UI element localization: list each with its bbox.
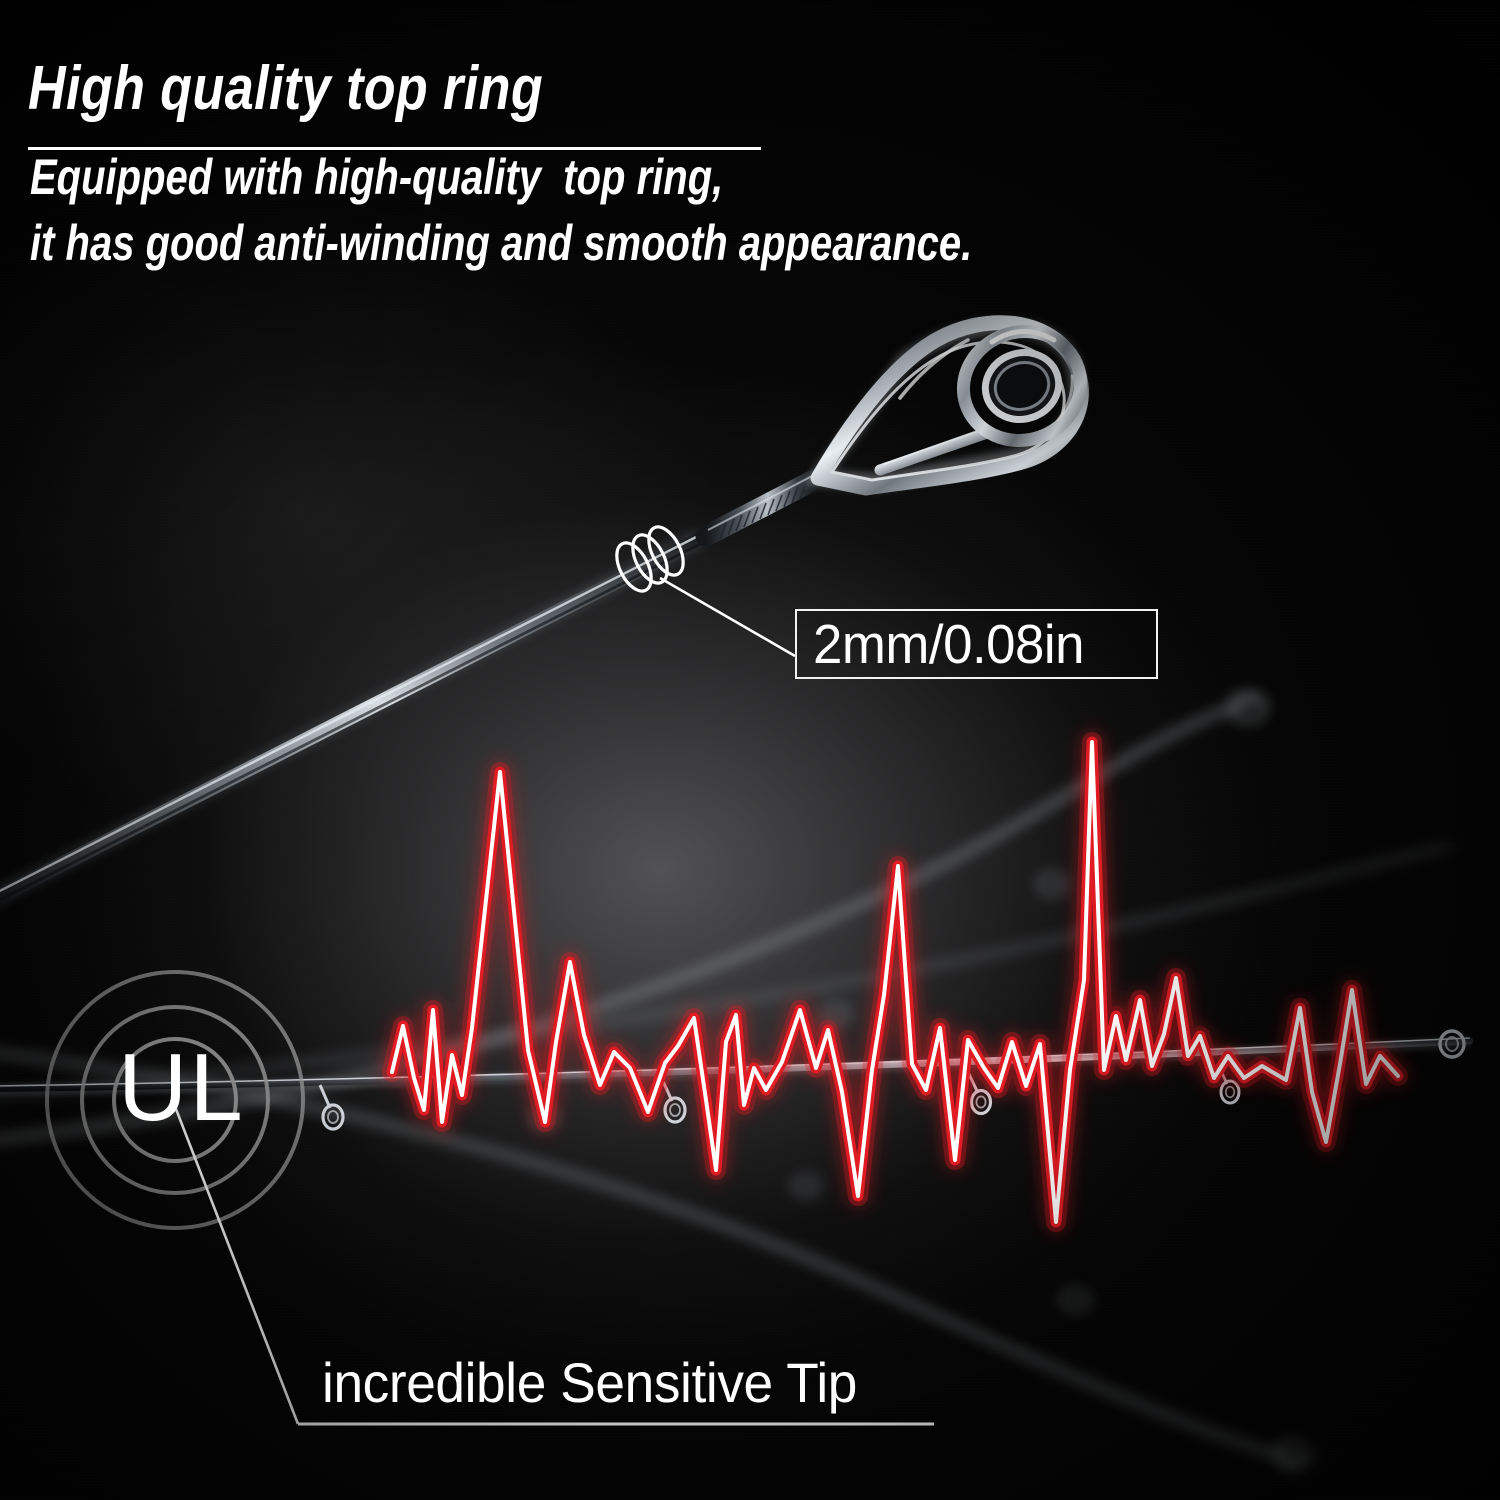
description-line-1: Equipped with high-quality top ring, [30, 152, 723, 202]
description-line-2: it has good anti-winding and smooth appe… [30, 218, 972, 268]
ul-badge-label: UL [118, 1040, 245, 1136]
tip-callout-text: incredible Sensitive Tip [322, 1355, 857, 1411]
product-feature-image: High quality top ring Equipped with high… [0, 0, 1500, 1500]
page-title: High quality top ring [28, 58, 543, 120]
diameter-callout-box: 2mm/0.08in [795, 609, 1158, 679]
diameter-callout-text: 2mm/0.08in [813, 617, 1084, 672]
